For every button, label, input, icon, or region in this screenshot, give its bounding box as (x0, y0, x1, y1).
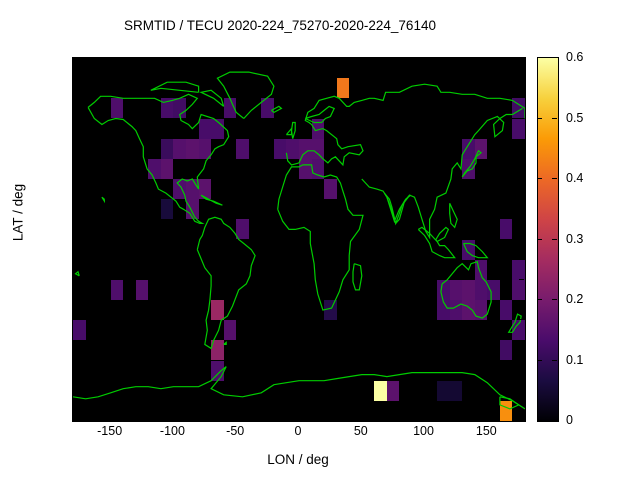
colorbar-tick-label: 0.5 (566, 111, 583, 125)
coastline-path (286, 84, 525, 165)
x-tick-label: -100 (142, 424, 202, 438)
coastline-path (76, 272, 80, 276)
coastline-path (286, 129, 291, 135)
coastline-path (384, 193, 410, 223)
x-tick-mark (424, 415, 425, 420)
colorbar-tick-label: 0.4 (566, 171, 583, 185)
coastline-path (418, 227, 454, 257)
x-tick-mark (110, 415, 111, 420)
colorbar-tick-mark (552, 239, 557, 240)
colorbar-tick-label: 0.3 (566, 232, 583, 246)
coastline-path (305, 106, 334, 122)
coastline-path (509, 314, 522, 332)
coastline-path (201, 90, 224, 106)
coastline-path (500, 397, 519, 409)
colorbar-gradient (538, 58, 558, 421)
x-tick-label: 0 (268, 424, 328, 438)
y-tick-mark (519, 360, 524, 361)
y-tick-mark (72, 239, 77, 240)
y-tick-mark (72, 319, 77, 320)
x-tick-mark (235, 57, 236, 62)
y-tick-mark (519, 198, 524, 199)
coastline-path (201, 195, 222, 205)
colorbar-tick-mark (552, 299, 557, 300)
coastline-path (217, 72, 274, 118)
y-tick-mark (519, 118, 524, 119)
chart-title: SRMTID / TECU 2020-224_75270-2020-224_76… (0, 18, 560, 33)
colorbar-tick-mark (537, 118, 542, 119)
figure-root: SRMTID / TECU 2020-224_75270-2020-224_76… (0, 0, 640, 480)
y-tick-mark (519, 77, 524, 78)
y-axis-label: LAT / deg (11, 143, 26, 283)
coastline-path (464, 244, 488, 258)
coastline-path (441, 262, 491, 318)
colorbar-tick-mark (537, 57, 542, 58)
colorbar-tick-mark (537, 178, 542, 179)
colorbar-tick-mark (552, 420, 557, 421)
colorbar-tick-mark (537, 420, 542, 421)
colorbar-tick-label: 0 (566, 413, 573, 427)
x-tick-mark (424, 57, 425, 62)
y-tick-mark (519, 279, 524, 280)
x-tick-mark (361, 57, 362, 62)
coastline-overlay (73, 58, 525, 421)
y-tick-mark (519, 319, 524, 320)
x-tick-mark (172, 415, 173, 420)
coastline-path (88, 94, 229, 223)
x-tick-mark (110, 57, 111, 62)
map-plot-area[interactable] (72, 57, 526, 422)
coastline-path (197, 217, 255, 348)
y-tick-mark (72, 198, 77, 199)
colorbar-tick-label: 0.1 (566, 353, 583, 367)
coastline-path (151, 82, 199, 92)
colorbar[interactable] (537, 57, 559, 422)
coastline-path (462, 151, 481, 177)
coastline-path (278, 165, 363, 310)
coastline-path (102, 197, 105, 201)
x-tick-mark (361, 415, 362, 420)
y-tick-mark (72, 360, 77, 361)
coastline-path (271, 106, 281, 112)
x-tick-mark (235, 415, 236, 420)
y-tick-mark (519, 158, 524, 159)
coastline-path (362, 108, 523, 237)
x-axis-label: LON / deg (72, 452, 524, 467)
y-tick-mark (72, 400, 77, 401)
colorbar-tick-mark (552, 118, 557, 119)
y-tick-mark (72, 118, 77, 119)
colorbar-tick-mark (537, 299, 542, 300)
coastline-path (353, 264, 362, 290)
coastline-path (450, 203, 458, 227)
coastline-path (73, 367, 525, 409)
colorbar-tick-mark (552, 360, 557, 361)
x-tick-mark (172, 57, 173, 62)
x-tick-label: 150 (456, 424, 516, 438)
y-tick-mark (72, 77, 77, 78)
colorbar-tick-mark (552, 178, 557, 179)
y-tick-mark (519, 400, 524, 401)
x-tick-mark (298, 415, 299, 420)
x-tick-label: -50 (205, 424, 265, 438)
x-tick-mark (298, 57, 299, 62)
x-tick-mark (486, 415, 487, 420)
x-tick-label: 100 (394, 424, 454, 438)
heatmap-canvas (73, 58, 525, 421)
y-tick-mark (519, 239, 524, 240)
y-tick-mark (72, 279, 77, 280)
y-tick-mark (72, 158, 77, 159)
x-tick-label: -150 (80, 424, 140, 438)
coastline-path (224, 342, 227, 344)
colorbar-tick-label: 0.2 (566, 292, 583, 306)
colorbar-tick-mark (537, 239, 542, 240)
colorbar-tick-mark (537, 360, 542, 361)
x-tick-mark (486, 57, 487, 62)
colorbar-tick-label: 0.6 (566, 50, 583, 64)
colorbar-tick-mark (552, 57, 557, 58)
x-tick-label: 50 (331, 424, 391, 438)
